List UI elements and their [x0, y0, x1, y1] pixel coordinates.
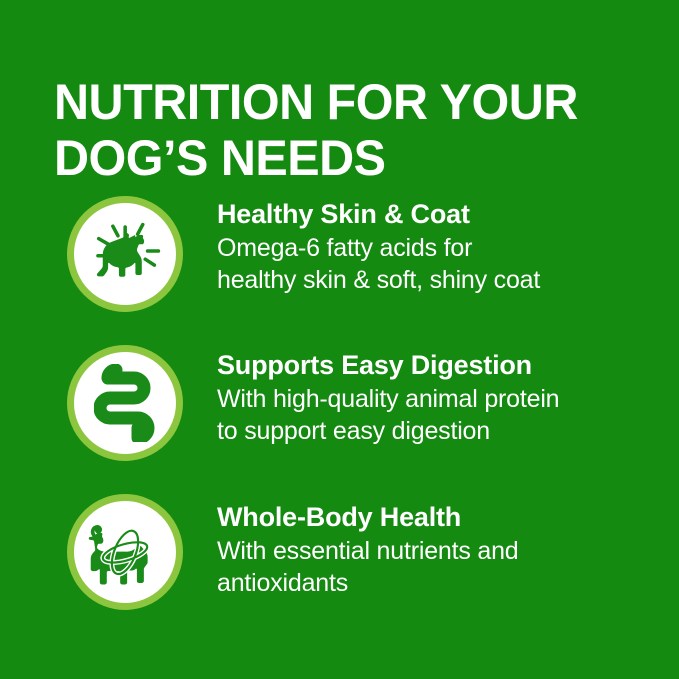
- benefit-icon-badge: [67, 196, 183, 312]
- benefit-description-line-1: With essential nutrients and: [217, 535, 679, 567]
- benefit-item-healthy-skin-coat: Healthy Skin & Coat Omega-6 fatty acids …: [0, 186, 679, 314]
- benefit-item-supports-easy-digestion: Supports Easy Digestion With high-qualit…: [0, 335, 679, 463]
- benefits-list: Healthy Skin & Coat Omega-6 fatty acids …: [0, 186, 679, 612]
- dog-shine-icon: [85, 214, 165, 294]
- benefit-description: With high-quality animal protein to supp…: [217, 383, 679, 447]
- nutrition-infographic-panel: NUTRITION FOR YOUR DOG’S NEEDS: [0, 0, 679, 679]
- benefit-title: Healthy Skin & Coat: [217, 198, 679, 231]
- benefit-text-block: Whole-Body Health With essential nutrien…: [183, 484, 679, 599]
- benefit-icon-badge: [67, 494, 183, 610]
- benefit-description-line-2: antioxidants: [217, 567, 679, 599]
- benefit-item-whole-body-health: Whole-Body Health With essential nutrien…: [0, 484, 679, 612]
- benefit-description: Omega-6 fatty acids for healthy skin & s…: [217, 232, 679, 296]
- benefit-text-block: Healthy Skin & Coat Omega-6 fatty acids …: [183, 186, 679, 296]
- benefit-description-line-2: to support easy digestion: [217, 415, 679, 447]
- page-title-line-1: NUTRITION FOR YOUR: [54, 74, 636, 130]
- intestine-icon: [94, 364, 156, 442]
- benefit-icon-badge: [67, 345, 183, 461]
- page-title: NUTRITION FOR YOUR DOG’S NEEDS: [54, 74, 636, 186]
- benefit-text-block: Supports Easy Digestion With high-qualit…: [183, 335, 679, 447]
- benefit-title: Whole-Body Health: [217, 501, 679, 534]
- benefit-description-line-1: Omega-6 fatty acids for: [217, 232, 679, 264]
- dog-atom-icon: [84, 513, 166, 591]
- page-title-line-2: DOG’S NEEDS: [54, 130, 636, 186]
- benefit-description: With essential nutrients and antioxidant…: [217, 535, 679, 599]
- benefit-description-line-1: With high-quality animal protein: [217, 383, 679, 415]
- benefit-title: Supports Easy Digestion: [217, 349, 679, 382]
- benefit-description-line-2: healthy skin & soft, shiny coat: [217, 264, 679, 296]
